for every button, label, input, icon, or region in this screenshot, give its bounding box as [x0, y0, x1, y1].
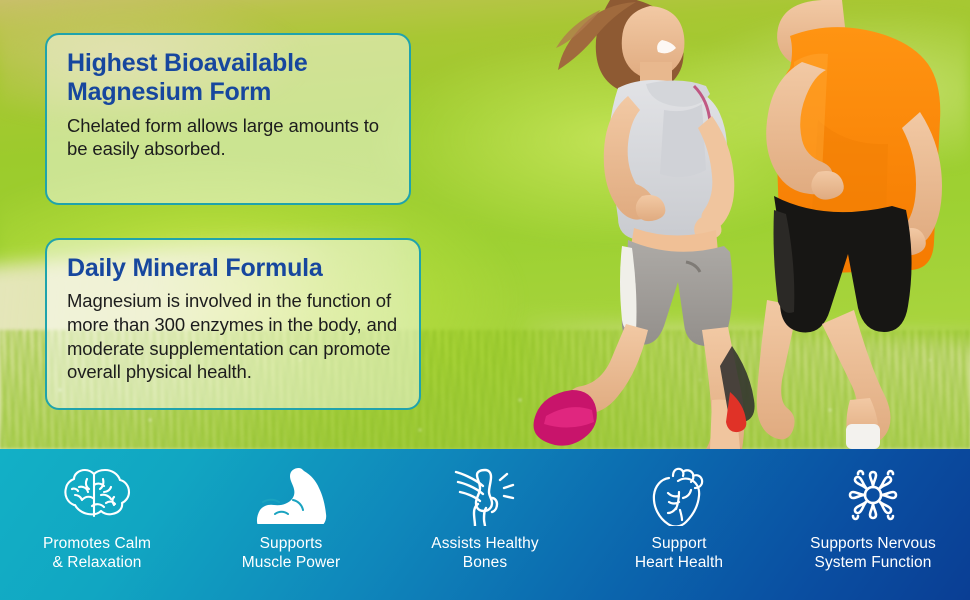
hero-photo: Highest Bioavailable Magnesium Form Chel…	[0, 0, 970, 449]
feature-card-body: Chelated form allows large amounts to be…	[67, 114, 391, 161]
benefit-item-healthy-bones: Assists HealthyBones	[388, 449, 582, 573]
brain-icon	[59, 459, 135, 531]
knee-joint-icon	[452, 459, 518, 531]
benefit-item-calm-relaxation: Promotes Calm& Relaxation	[0, 449, 194, 573]
feature-card-body: Magnesium is involved in the function of…	[67, 289, 401, 384]
benefit-label: Assists HealthyBones	[431, 535, 538, 573]
product-benefits-banner: Highest Bioavailable Magnesium Form Chel…	[0, 0, 970, 600]
benefit-label: SupportsMuscle Power	[242, 535, 341, 573]
feature-card-title: Daily Mineral Formula	[67, 254, 401, 283]
benefits-bar: Promotes Calm& Relaxation SupportsMuscle…	[0, 449, 970, 600]
benefit-label: Promotes Calm& Relaxation	[43, 535, 151, 573]
feature-card-daily-mineral: Daily Mineral Formula Magnesium is invol…	[45, 238, 421, 410]
feature-card-title: Highest Bioavailable Magnesium Form	[67, 49, 391, 108]
woman-runner	[534, 0, 755, 449]
benefit-label: Supports NervousSystem Function	[810, 535, 936, 573]
neuron-icon	[840, 459, 906, 531]
feature-card-bioavailable: Highest Bioavailable Magnesium Form Chel…	[45, 33, 411, 205]
benefit-item-nervous-system: Supports NervousSystem Function	[776, 449, 970, 573]
man-runner	[757, 0, 942, 449]
benefit-label: SupportHeart Health	[635, 535, 723, 573]
heart-icon	[649, 459, 709, 531]
benefit-item-heart-health: SupportHeart Health	[582, 449, 776, 573]
runners-illustration	[450, 0, 970, 449]
benefit-item-muscle-power: SupportsMuscle Power	[194, 449, 388, 573]
bicep-icon	[255, 459, 327, 531]
